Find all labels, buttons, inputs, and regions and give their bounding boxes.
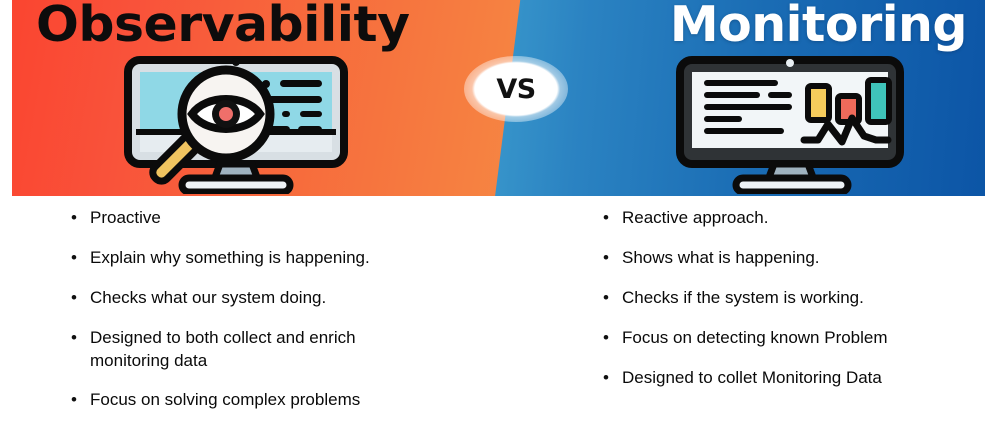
list-item: • Designed to both collect and enrich mo… [60,326,500,372]
list-item-label: Checks if the system is working. [622,286,972,309]
bullet-icon: • [60,388,90,412]
bullet-icon: • [60,246,90,270]
bullet-list-observability: • Proactive • Explain why something is h… [60,206,500,426]
monitor-charts-icon [672,52,908,196]
list-item-label: Proactive [90,206,500,229]
bullet-icon: • [60,286,90,310]
list-item-label: Shows what is happening. [622,246,972,269]
list-item-label: Focus on solving complex problems [90,388,500,411]
bullet-list-monitoring: • Reactive approach. • Shows what is hap… [592,206,972,406]
vs-label: VS [496,74,535,105]
observability-vs-monitoring-slide: Observability Monitoring VS [0,0,985,426]
list-item: • Focus on solving complex problems [60,388,500,412]
list-item-label: Reactive approach. [622,206,972,229]
list-item-label: Checks what our system doing. [90,286,500,309]
list-item-label: Designed to both collect and enrich moni… [90,326,500,372]
bullet-icon: • [592,246,622,270]
monitor-magnifier-eye-icon [120,52,352,196]
comparison-banner: Observability Monitoring VS [12,0,985,196]
bullet-icon: • [592,286,622,310]
bullet-icon: • [592,206,622,230]
list-item-label: Focus on detecting known Problem [622,326,972,349]
bullet-icon: • [60,326,90,350]
banner-title-observability: Observability [36,0,410,54]
list-item: • Proactive [60,206,500,230]
list-item: • Focus on detecting known Problem [592,326,972,350]
vs-badge: VS [464,56,568,122]
bullet-icon: • [60,206,90,230]
list-item: • Reactive approach. [592,206,972,230]
list-item: • Checks if the system is working. [592,286,972,310]
list-item: • Explain why something is happening. [60,246,500,270]
banner-title-monitoring: Monitoring [670,0,967,54]
list-item-label: Explain why something is happening. [90,246,500,269]
list-item: • Shows what is happening. [592,246,972,270]
list-item: • Designed to collet Monitoring Data [592,366,972,390]
list-item-label: Designed to collet Monitoring Data [622,366,972,389]
bullet-icon: • [592,366,622,390]
vs-badge-inner: VS [480,65,552,113]
list-item: • Checks what our system doing. [60,286,500,310]
bullet-icon: • [592,326,622,350]
